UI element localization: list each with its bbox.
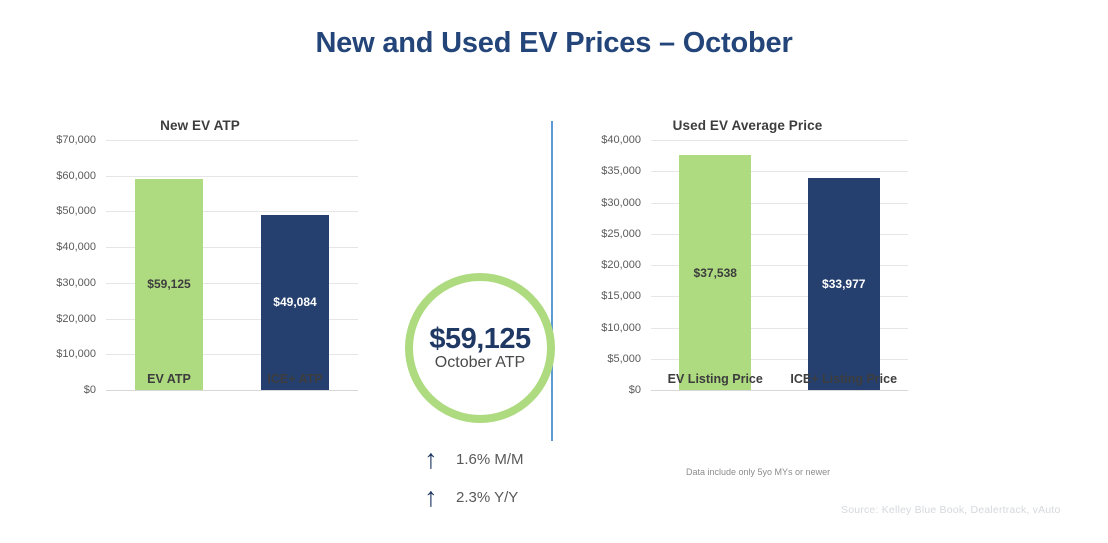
x-axis-label: EV Listing Price: [651, 372, 780, 386]
bar-series: $37,538$33,977: [651, 140, 908, 390]
y-axis-tick-label: $30,000: [56, 277, 96, 289]
arrow-up-icon: ↑: [418, 446, 444, 473]
chart-new-ev-atp: New EV ATP $0$10,000$20,000$30,000$40,00…: [40, 118, 360, 428]
panel-used-ev: Used EV Average Price $0$5,000$10,000$15…: [570, 118, 1090, 448]
y-axis-tick-label: $20,000: [601, 259, 641, 271]
stat-row: ↑ 2.3% Y/Y: [418, 478, 524, 516]
bar-slot: $59,125: [106, 140, 232, 390]
y-axis-tick-label: $10,000: [601, 322, 641, 334]
section-divider: [551, 121, 553, 441]
bar-slot: $37,538: [651, 140, 780, 390]
plot-area: $37,538$33,977: [651, 140, 908, 390]
stats-new-ev: ↑ 1.6% M/M ↑ 2.3% Y/Y: [418, 440, 524, 516]
panel-new-ev: New EV ATP $0$10,000$20,000$30,000$40,00…: [30, 118, 540, 448]
source-note: Source: Kelley Blue Book, Dealertrack, v…: [841, 504, 1061, 516]
bar-value-label: $49,084: [261, 295, 329, 309]
y-axis-tick-label: $25,000: [601, 228, 641, 240]
x-axis-label: ICE+ Listing Price: [780, 372, 909, 386]
y-axis-tick-label: $50,000: [56, 205, 96, 217]
y-axis-tick-label: $15,000: [601, 290, 641, 302]
chart-used-ev-average-price: Used EV Average Price $0$5,000$10,000$15…: [585, 118, 910, 433]
y-axis-tick-label: $5,000: [607, 353, 641, 365]
arrow-up-icon: ↑: [418, 484, 444, 511]
stat-label: 1.6% M/M: [456, 451, 524, 468]
y-axis-tick-label: $40,000: [56, 241, 96, 253]
y-axis-tick-label: $60,000: [56, 170, 96, 182]
chart-title: Used EV Average Price: [585, 118, 910, 133]
y-axis-tick-label: $35,000: [601, 165, 641, 177]
gridline: [106, 390, 358, 391]
bar[interactable]: $49,084: [261, 215, 329, 390]
badge-october-atp: $59,125 October ATP: [405, 273, 555, 423]
gridline: [651, 390, 908, 391]
bar-slot: $49,084: [232, 140, 358, 390]
plot-area: $59,125$49,084: [106, 140, 358, 390]
y-axis-tick-label: $10,000: [56, 348, 96, 360]
footnote: Data include only 5yo MYs or newer: [686, 467, 830, 477]
x-axis-labels: EV ATPICE+ ATP: [106, 372, 358, 386]
badge-value: $59,125: [429, 324, 530, 354]
y-axis: $0$10,000$20,000$30,000$40,000$50,000$60…: [40, 140, 102, 390]
x-axis-label: ICE+ ATP: [232, 372, 358, 386]
badge-label: October ATP: [435, 354, 525, 372]
y-axis-tick-label: $30,000: [601, 197, 641, 209]
x-axis-labels: EV Listing PriceICE+ Listing Price: [651, 372, 908, 386]
bar-series: $59,125$49,084: [106, 140, 358, 390]
page-title: New and Used EV Prices – October: [0, 27, 1108, 60]
y-axis-tick-label: $20,000: [56, 313, 96, 325]
stat-label: 2.3% Y/Y: [456, 489, 518, 506]
bar-slot: $33,977: [780, 140, 909, 390]
y-axis: $0$5,000$10,000$15,000$20,000$25,000$30,…: [585, 140, 647, 390]
bar[interactable]: $37,538: [679, 155, 751, 390]
bar-value-label: $33,977: [808, 277, 880, 291]
y-axis-tick-label: $0: [629, 384, 641, 396]
stat-row: ↑ 1.6% M/M: [418, 440, 524, 478]
y-axis-tick-label: $70,000: [56, 134, 96, 146]
bar[interactable]: $59,125: [135, 179, 203, 390]
bar-value-label: $59,125: [135, 277, 203, 291]
y-axis-tick-label: $40,000: [601, 134, 641, 146]
chart-title: New EV ATP: [40, 118, 360, 133]
x-axis-label: EV ATP: [106, 372, 232, 386]
bar-value-label: $37,538: [679, 266, 751, 280]
bar[interactable]: $33,977: [808, 178, 880, 390]
y-axis-tick-label: $0: [84, 384, 96, 396]
